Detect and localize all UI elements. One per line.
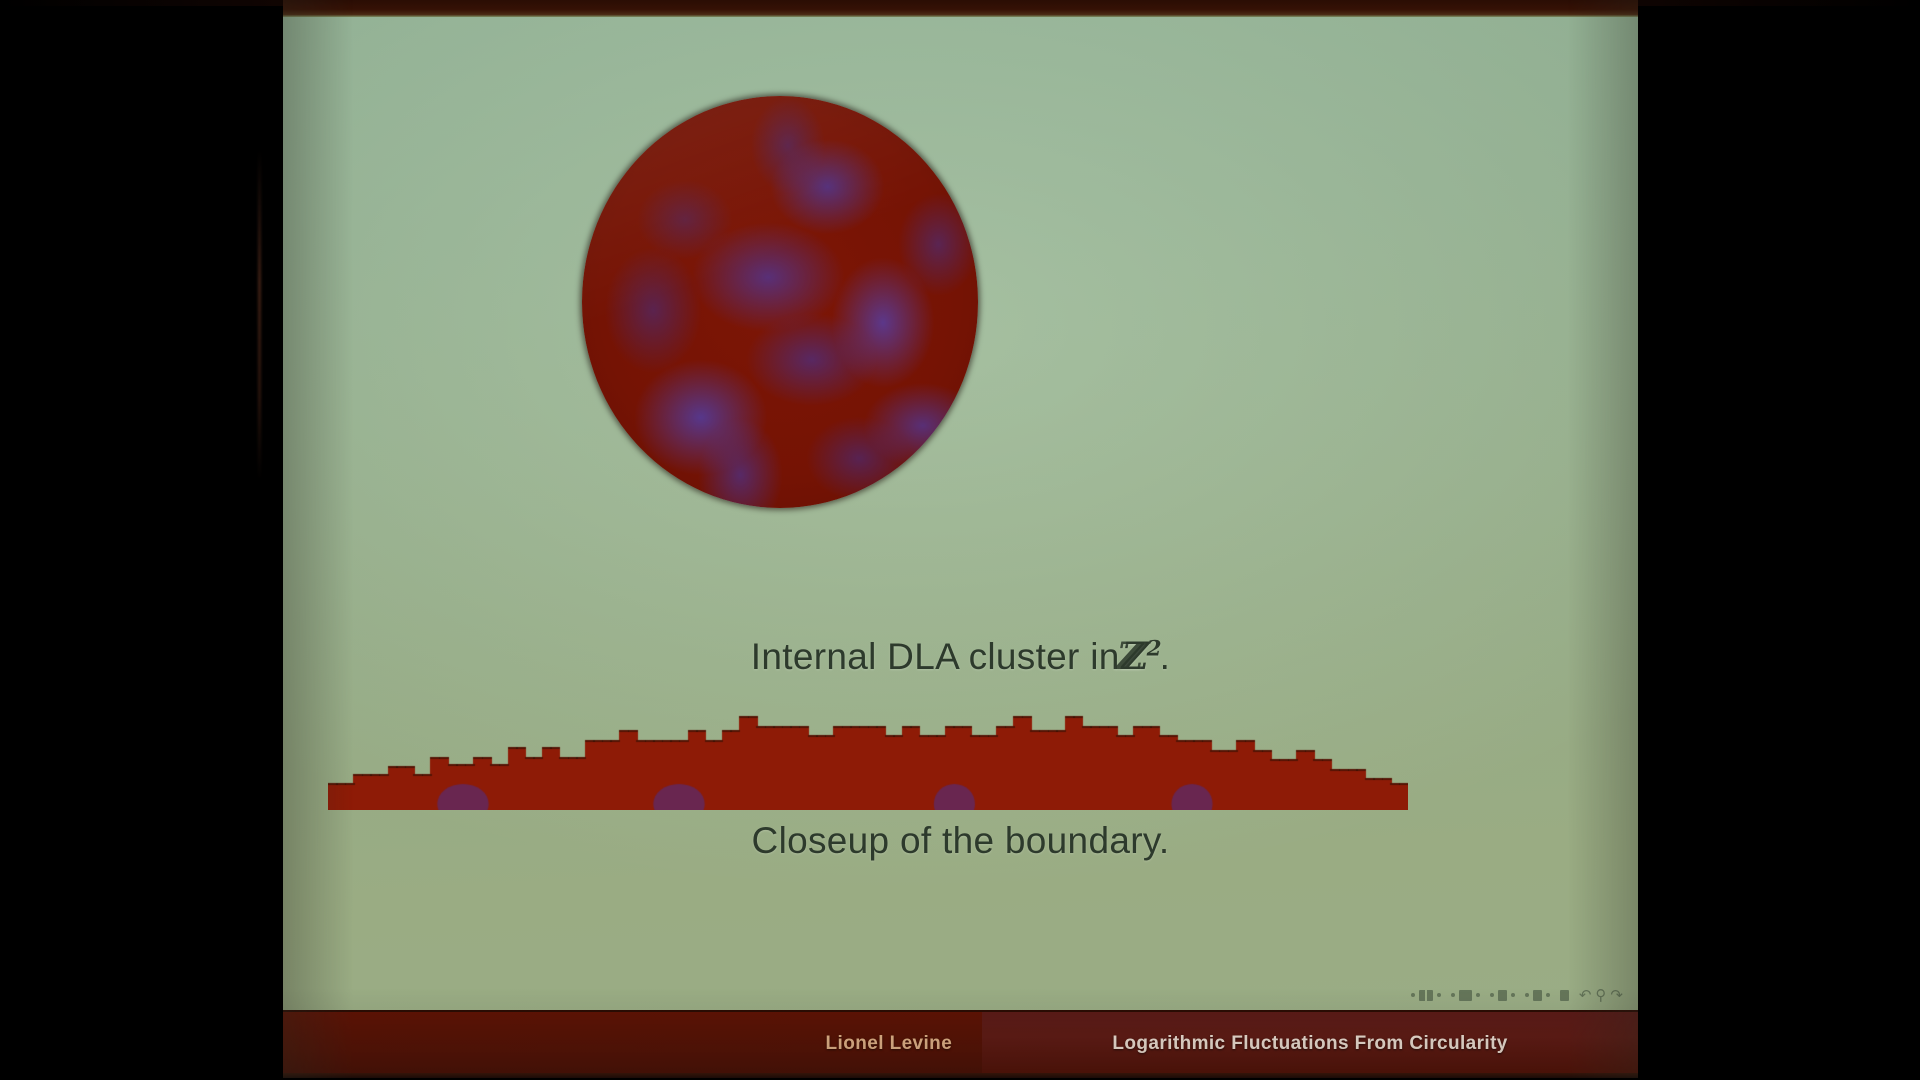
nav-dot-icon [1411, 993, 1415, 997]
math-symbol-integers: Z2 [1120, 634, 1160, 678]
nav-group-subsection[interactable] [1490, 990, 1515, 1001]
internal-dla-cluster-figure [582, 96, 978, 508]
math-exponent: 2 [1147, 637, 1160, 662]
nav-group-search[interactable]: ↶ ⚲ ↷ [1579, 988, 1623, 1003]
caption-boundary-closeup: Closeup of the boundary. [283, 820, 1638, 862]
nav-dot-icon [1476, 993, 1480, 997]
projection-photo-frame: Internal DLA cluster inZ2. Closeup of th… [0, 0, 1920, 1080]
nav-dot-icon [1451, 993, 1455, 997]
forward-arrow-icon[interactable]: ↷ [1610, 988, 1623, 1003]
nav-group-frame[interactable] [1451, 990, 1480, 1001]
math-z-glyph: Z [1122, 634, 1147, 678]
nav-dot-icon [1546, 993, 1550, 997]
nav-group-slide[interactable] [1411, 990, 1441, 1001]
nav-dot-icon [1525, 993, 1529, 997]
nav-dot-icon [1490, 993, 1494, 997]
document-box-icon[interactable] [1560, 990, 1569, 1001]
nav-dot-icon [1511, 993, 1515, 997]
section-box-icon[interactable] [1533, 990, 1542, 1001]
slide-pair-icon[interactable] [1419, 990, 1433, 1001]
footer-author-name: Lionel Levine [826, 1033, 953, 1055]
nav-dot-icon [1437, 993, 1441, 997]
beamer-navigation-symbols[interactable]: ↶ ⚲ ↷ [1411, 982, 1623, 1008]
nav-group-section[interactable] [1525, 990, 1550, 1001]
caption-cluster-period: . [1160, 636, 1171, 677]
footer-author-cell: Lionel Levine [283, 1012, 982, 1075]
caption-cluster-text: Internal DLA cluster in [751, 636, 1120, 677]
nav-group-document[interactable] [1560, 990, 1569, 1001]
frame-box-icon[interactable] [1459, 990, 1472, 1001]
caption-internal-dla-cluster: Internal DLA cluster inZ2. [283, 634, 1638, 678]
dla-disk [582, 96, 978, 508]
wall-edge-seam [258, 150, 261, 480]
slide-top-band [283, 0, 1638, 17]
search-magnifier-icon[interactable]: ⚲ [1595, 988, 1606, 1003]
back-arrow-icon[interactable]: ↶ [1579, 988, 1592, 1003]
boundary-closeup-figure [328, 690, 1408, 810]
presentation-slide: Internal DLA cluster inZ2. Closeup of th… [283, 0, 1638, 1078]
slide-bottom-shadow [283, 1073, 1638, 1078]
footer-presentation-title: Logarithmic Fluctuations From Circularit… [1112, 1033, 1507, 1055]
boundary-closeup-canvas [328, 690, 1408, 810]
footer-title-cell: Logarithmic Fluctuations From Circularit… [982, 1012, 1638, 1075]
subsection-box-icon[interactable] [1498, 990, 1507, 1001]
slide-footer-bar: Lionel Levine Logarithmic Fluctuations F… [283, 1010, 1638, 1075]
